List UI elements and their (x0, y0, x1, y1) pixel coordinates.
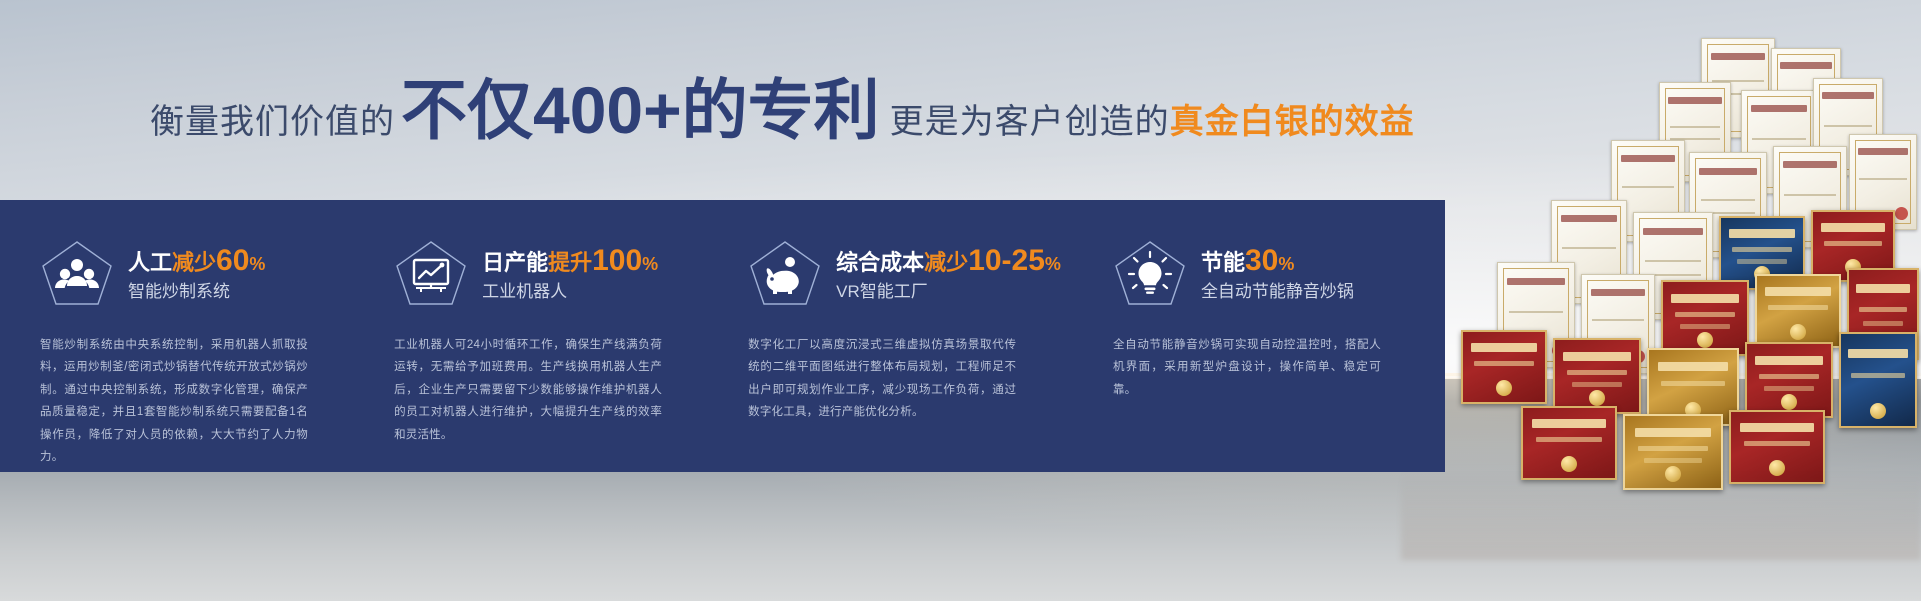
feature-stat-number: 10-25 (968, 244, 1045, 277)
feature-list: 人工减少60% 智能炒制系统 智能炒制系统由中央系统控制，采用机器人抓取投料，运… (0, 200, 1445, 472)
headline-lead: 衡量我们价值的 (150, 94, 395, 143)
pyramid-reflection (1401, 470, 1921, 560)
award-plaque (1661, 280, 1749, 356)
feature-header: 日产能提升100% 工业机器人 (394, 238, 696, 308)
feature-item: 人工减少60% 智能炒制系统 智能炒制系统由中央系统控制，采用机器人抓取投料，运… (0, 200, 372, 472)
feature-subtitle: 工业机器人 (482, 283, 658, 300)
feature-stat-unit: % (642, 254, 658, 274)
feature-stat: 人工减少60% (128, 246, 265, 276)
feature-stat: 节能30% (1201, 246, 1354, 276)
feature-titles: 人工减少60% 智能炒制系统 (128, 246, 265, 300)
feature-header: 人工减少60% 智能炒制系统 (40, 238, 342, 308)
feature-stat-number: 30 (1245, 244, 1278, 277)
certificate-pyramid (1401, 30, 1921, 510)
feature-subtitle: 智能炒制系统 (128, 283, 265, 300)
feature-body: 智能炒制系统由中央系统控制，采用机器人抓取投料，运用炒制釜/密闭式炒锅替代传统开… (40, 334, 308, 469)
feature-stat-label: 人工 (128, 250, 172, 275)
feature-stat-number: 100 (592, 244, 642, 277)
feature-stat-unit: % (1278, 254, 1294, 274)
feature-stat-action: 减少 (172, 250, 216, 275)
feature-body: 工业机器人可24小时循环工作，确保生产线满负荷运转，无需给予加班费用。生产线换用… (394, 334, 662, 446)
award-plaque (1521, 406, 1617, 480)
feature-stat-action: 减少 (924, 250, 968, 275)
award-plaque (1553, 338, 1641, 414)
page-headline: 衡量我们价值的 不仅400+的专利 更是为客户创造的 真金白银的效益 (150, 77, 1415, 143)
feature-stat-action: 节能 (1201, 250, 1245, 275)
feature-stat-action: 提升 (548, 250, 592, 275)
feature-stat-unit: % (249, 254, 265, 274)
feature-subtitle: 全自动节能静音炒锅 (1201, 283, 1354, 300)
feature-body: 全自动节能静音炒锅可实现自动控温控时，搭配人机界面，采用新型炉盘设计，操作简单、… (1113, 334, 1381, 401)
headline-highlight: 真金白银的效益 (1170, 94, 1415, 143)
feature-item: 节能30% 全自动节能静音炒锅 全自动节能静音炒锅可实现自动控温控时，搭配人机界… (1091, 200, 1445, 472)
feature-titles: 日产能提升100% 工业机器人 (482, 246, 658, 300)
lightbulb-icon (1113, 238, 1187, 308)
headline-middle: 更是为客户创造的 (890, 94, 1170, 143)
piggy-bank-icon (748, 238, 822, 308)
feature-item: 综合成本减少10-25% VR智能工厂 数字化工厂以高度沉浸式三维虚拟仿真场景取… (726, 200, 1091, 472)
feature-stat-unit: % (1045, 254, 1061, 274)
feature-titles: 综合成本减少10-25% VR智能工厂 (836, 246, 1061, 300)
award-plaque (1755, 274, 1841, 348)
feature-stat: 综合成本减少10-25% (836, 246, 1061, 276)
feature-header: 节能30% 全自动节能静音炒锅 (1113, 238, 1415, 308)
feature-stat-label: 日产能 (482, 250, 548, 275)
chart-board-icon (394, 238, 468, 308)
people-group-icon (40, 238, 114, 308)
feature-titles: 节能30% 全自动节能静音炒锅 (1201, 246, 1354, 300)
feature-header: 综合成本减少10-25% VR智能工厂 (748, 238, 1061, 308)
feature-stat-number: 60 (216, 244, 249, 277)
award-plaque (1461, 330, 1547, 404)
feature-stat: 日产能提升100% (482, 246, 658, 276)
feature-subtitle: VR智能工厂 (836, 283, 1061, 300)
feature-body: 数字化工厂以高度沉浸式三维虚拟仿真场景取代传统的二维平面图纸进行整体布局规划，工… (748, 334, 1016, 424)
feature-panel: 人工减少60% 智能炒制系统 智能炒制系统由中央系统控制，采用机器人抓取投料，运… (0, 200, 1445, 472)
feature-item: 日产能提升100% 工业机器人 工业机器人可24小时循环工作，确保生产线满负荷运… (372, 200, 726, 472)
headline-emphasis: 不仅400+的专利 (401, 77, 880, 143)
banner-stage: 衡量我们价值的 不仅400+的专利 更是为客户创造的 真金白银的效益 (0, 0, 1921, 601)
award-plaque (1839, 332, 1917, 428)
feature-stat-label: 综合成本 (836, 250, 924, 275)
award-plaque (1745, 342, 1833, 418)
